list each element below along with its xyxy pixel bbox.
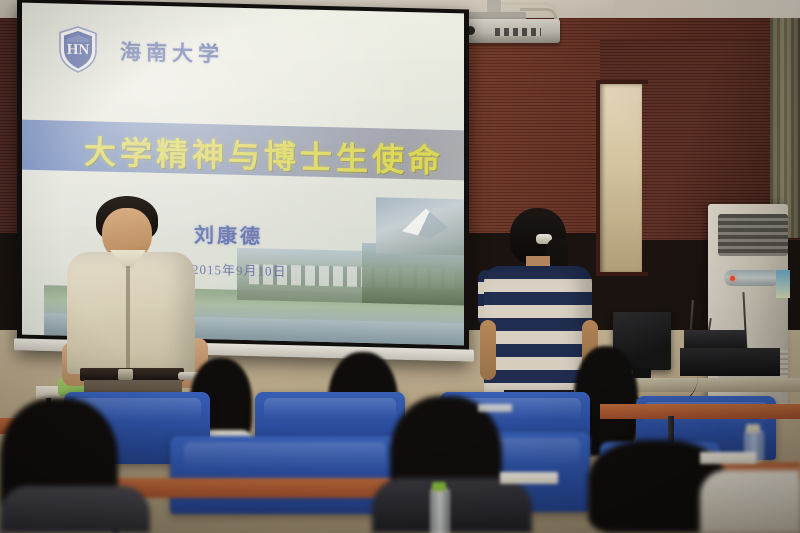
hn-shield-icon: HN: [58, 25, 98, 73]
chair-back[interactable]: [170, 436, 400, 514]
water-bottle-cap[interactable]: [432, 482, 446, 491]
paper-handout[interactable]: [500, 472, 558, 484]
student-front-right-body: [700, 470, 800, 533]
paper-handout[interactable]: [700, 452, 756, 464]
lecture-hall-photo: HN 海南大学 大学精神与博士生使命 刘康德 2015年9月10日: [0, 0, 800, 533]
standing-presenter: [62, 196, 212, 406]
water-bottle-cap[interactable]: [746, 424, 760, 433]
presenter-shirt: [67, 252, 195, 374]
student-desk: [600, 404, 800, 419]
projector-ports: [495, 28, 541, 36]
ac-top-vent: [718, 214, 788, 256]
presenter-shirt-placket: [126, 266, 130, 372]
photo-sculpture-monument: [376, 197, 464, 255]
student-front-left-body: [0, 486, 150, 533]
presenter-belt-buckle: [118, 369, 133, 380]
slide-university-name: 海南大学: [120, 35, 224, 68]
water-bottle[interactable]: [430, 488, 450, 533]
av-receiver-upper: [684, 330, 746, 350]
woman-left-arm: [480, 320, 496, 380]
student-front-mid-body: [372, 478, 532, 533]
ac-power-led: [730, 276, 735, 281]
ac-energy-label: [776, 270, 790, 298]
door-frame: [596, 80, 648, 276]
slide-title: 大学精神与博士生使命: [84, 127, 444, 182]
svg-text:HN: HN: [67, 42, 90, 59]
slide-logo-row: HN 海南大学: [58, 25, 224, 76]
av-equipment-rack: [680, 348, 780, 376]
paper-handout[interactable]: [478, 404, 512, 412]
